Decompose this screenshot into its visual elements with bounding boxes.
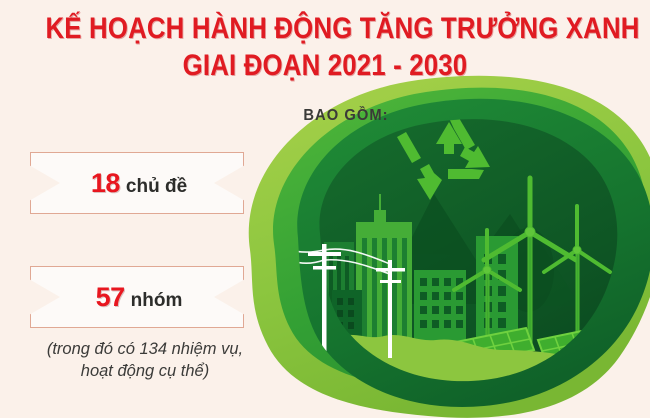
infographic-canvas: KẾ HOẠCH HÀNH ĐỘNG TĂNG TRƯỞNG XANH GIAI… (0, 0, 650, 418)
banner-number: 57 (96, 282, 125, 313)
banner-content: 18 chủ đề (91, 168, 187, 199)
stat-banner-topics[interactable]: 18 chủ đề (30, 152, 244, 214)
green-growth-illustration (228, 74, 650, 418)
banner-label: chủ đề (126, 176, 187, 198)
page-title: KẾ HOẠCH HÀNH ĐỘNG TĂNG TRƯỞNG XANH GIAI… (0, 14, 650, 81)
title-line-1: KẾ HOẠCH HÀNH ĐỘNG TĂNG TRƯỞNG XANH (46, 14, 605, 44)
footnote-line-2: hoạt động cụ thể) (14, 360, 276, 382)
banner-label: nhóm (131, 290, 183, 312)
banner-content: 57 nhóm (96, 282, 183, 313)
banner-number: 18 (91, 168, 120, 199)
footnote: (trong đó có 134 nhiệm vụ, hoạt động cụ … (14, 338, 276, 383)
footnote-line-1: (trong đó có 134 nhiệm vụ, (14, 338, 276, 360)
subtitle-bao-gom: BAO GỒM: (237, 107, 456, 125)
stat-banner-groups[interactable]: 57 nhóm (30, 266, 244, 328)
title-line-2: GIAI ĐOẠN 2021 - 2030 (46, 51, 605, 81)
